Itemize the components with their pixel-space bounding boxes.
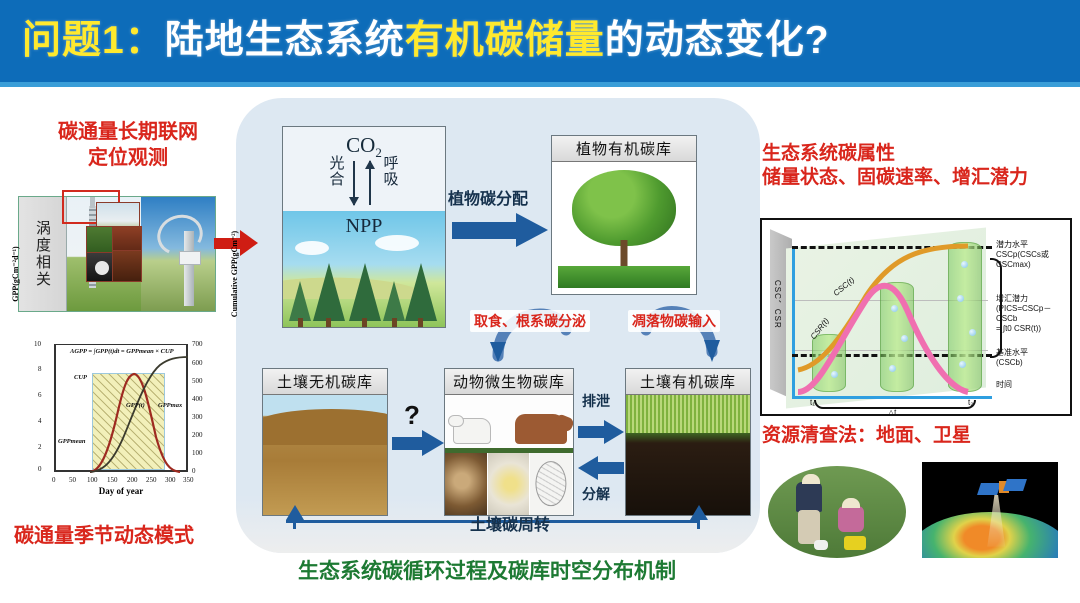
t-start-label: t₁ [810, 398, 815, 408]
tree-trunk-icon [326, 318, 331, 327]
xtick-150: 150 [107, 476, 118, 484]
ytick-2: 2 [38, 443, 42, 451]
chart-curves [56, 345, 190, 473]
bare-soil-photo [263, 395, 387, 515]
cloud-icon [295, 241, 329, 255]
litter-input-label: 凋落物碳输入 [628, 310, 720, 332]
horse-icon [515, 414, 567, 444]
decomposition-label: 分解 [582, 484, 610, 504]
unknown-process-question-mark: ? [404, 400, 420, 431]
carbon-stock-cylinder-3 [948, 242, 982, 392]
litter-photo [445, 453, 488, 515]
tree-trunk-icon [362, 318, 367, 327]
tree-trunk-icon [418, 318, 423, 327]
decomposition-arrow-icon [578, 456, 624, 480]
instrument-field-photo [141, 197, 215, 311]
plant-carbon-distribution-label: 植物碳分配 [448, 185, 528, 209]
plant-organic-carbon-pool: 植物有机碳库 [551, 135, 697, 295]
forest-photo: NPP [283, 211, 445, 327]
potential-level-text: 潜力水平 CSCp(CSCs或CSCmax) [996, 240, 1070, 270]
ytick-10: 10 [34, 340, 41, 348]
npp-diagram-box: CO2 光合 呼吸 NPP [282, 126, 446, 328]
eddy-covariance-label: 涡度相关 [19, 197, 67, 311]
delta-t-label: △t [888, 408, 896, 416]
soil-inorganic-pool-title: 土壤无机碳库 [263, 369, 387, 395]
page-title: 问题1：陆地生态系统有机碳储量的动态变化? [22, 14, 830, 68]
bio-pool-title: 动物微生物碳库 [445, 369, 573, 395]
sensor-mast-icon [184, 231, 194, 306]
xtick-200: 200 [127, 476, 138, 484]
gpp-seasonal-chart: GPP(gCm⁻²d⁻¹) Cumulative GPP(gCm⁻²) 10 8… [14, 332, 230, 512]
satellite-icon [979, 479, 1025, 501]
respiration-arrow-icon [369, 161, 371, 205]
title-part-1: 问题1： [22, 19, 165, 62]
soil-to-biota-arrow-icon [392, 430, 444, 456]
title-part-3: 有机碳储量 [405, 19, 605, 62]
y2tick-500: 500 [192, 377, 203, 385]
y2tick-700: 700 [192, 340, 203, 348]
chart-annotation-cup: CUP [74, 374, 87, 381]
excretion-label: 排泄 [582, 391, 610, 411]
photosynthesis-arrow-icon [353, 161, 355, 205]
hat-icon [842, 498, 860, 508]
grazing-animals-photo [445, 395, 573, 453]
diagram-x-axis [792, 396, 992, 399]
sample-icon [814, 540, 828, 550]
soil-inorganic-carbon-pool: 土壤无机碳库 [262, 368, 388, 516]
xtick-100: 100 [87, 476, 98, 484]
chart-annotation-gppmax: GPPmax [158, 402, 182, 409]
flux-seasonal-caption: 碳通量季节动态模式 [14, 524, 194, 550]
atmosphere-section: CO2 光合 呼吸 [283, 127, 445, 211]
animal-microbe-carbon-pool: 动物微生物碳库 [444, 368, 574, 516]
carbon-stock-cylinder-2 [880, 282, 914, 392]
goat-icon [453, 418, 491, 444]
chart-y-axis-label: GPP(gCm⁻²d⁻¹) [11, 210, 20, 338]
chart-x-axis-label: Day of year [54, 486, 188, 496]
chart-y2-axis-label: Cumulative GPP(gCm⁻²) [230, 210, 239, 338]
biota-photo-grid [445, 395, 573, 515]
title-bar-accent-strip [0, 82, 1080, 87]
carbon-sink-potential-diagram: CSC、CSR 潜力水平 CSCp(CSCs或CSCmax) 增汇潜力 (PIC… [760, 218, 1072, 416]
tree-icon [349, 263, 381, 321]
ytick-8: 8 [38, 365, 42, 373]
inset-photo-5 [112, 250, 142, 282]
turnover-stem-left [293, 512, 296, 529]
t-end-label: t₂ [968, 398, 973, 408]
field-survey-photo [768, 466, 906, 558]
turnover-stem-right [697, 512, 700, 529]
chart-annotation-agpp: AGPP = ∫GPP(t)dt = GPPmean × CUP [70, 348, 174, 355]
xtick-350: 350 [183, 476, 194, 484]
title-part-4: 的动态变化? [605, 19, 830, 62]
tree-icon [405, 263, 437, 321]
y2tick-300: 300 [192, 413, 203, 421]
title-part-2: 陆地生态系统 [165, 19, 405, 62]
xtick-0: 0 [52, 476, 56, 484]
soil-organic-pool-title: 土壤有机碳库 [626, 369, 750, 395]
tree-canopy-icon [572, 170, 676, 246]
hat-icon [802, 474, 820, 484]
satellite-remote-sensing-photo [922, 462, 1058, 558]
fungi-photo [488, 453, 531, 515]
xtick-50: 50 [69, 476, 76, 484]
ytick-0: 0 [38, 465, 42, 473]
chart-annotation-gppmean: GPPmean [58, 438, 85, 445]
grass-soil-profile-photo [626, 395, 750, 515]
surveyor-legs [798, 510, 820, 544]
diagram-y-axis [792, 246, 795, 398]
sink-potential-brace [990, 258, 1002, 358]
sample-bag-icon [844, 536, 866, 550]
ecosystem-carbon-attributes-title: 生态系统碳属性 储量状态、固碳速率、增汇潜力 [762, 142, 1028, 191]
second-surveyor-icon [838, 506, 864, 532]
diagram-x-axis-label: 时间 [996, 380, 1012, 390]
y2tick-400: 400 [192, 395, 203, 403]
respiration-label: 呼吸 [381, 157, 401, 189]
co2-label: CO2 [283, 133, 445, 161]
tree-trunk-icon [392, 318, 397, 327]
ytick-6: 6 [38, 391, 42, 399]
resource-inventory-title: 资源清查法：地面、卫星 [762, 424, 971, 448]
soil-organic-carbon-pool: 土壤有机碳库 [625, 368, 751, 516]
tree-photo [552, 162, 696, 294]
slide-root: 问题1：陆地生态系统有机碳储量的动态变化? 碳通量长期联网 定位观测 涡度相关 … [0, 0, 1080, 603]
tree-icon [289, 281, 311, 321]
y2tick-200: 200 [192, 431, 203, 439]
surveyor-icon [796, 482, 822, 512]
soil-carbon-turnover-label: 土壤碳周转 [470, 511, 550, 535]
carbon-cycle-caption: 生态系统碳循环过程及碳库时空分布机制 [298, 555, 676, 585]
eat-root-exudate-label: 取食、根系碳分泌 [470, 310, 590, 332]
photosynthesis-label: 光合 [327, 157, 347, 189]
diagram-y-axis-label: CSC、CSR [772, 280, 783, 329]
carbon-stock-cylinder-1 [812, 334, 846, 392]
y2tick-100: 100 [192, 449, 203, 457]
tree-trunk-icon [298, 318, 303, 327]
tree-icon [383, 281, 405, 321]
chart-annotation-gppt: GPP(t) [126, 402, 145, 409]
flux-observation-title: 碳通量长期联网 定位观测 [34, 120, 222, 171]
plant-distribution-arrow-icon [452, 213, 548, 247]
tree-icon [313, 263, 345, 321]
xtick-300: 300 [165, 476, 176, 484]
y2tick-600: 600 [192, 359, 203, 367]
microbe-photo [530, 453, 573, 515]
excretion-arrow-icon [578, 420, 624, 444]
sink-potential-text: 增汇潜力 (PICS=CSCp－CSCb = ∫t0 CSR(t)) [996, 294, 1070, 334]
y2tick-0: 0 [192, 467, 196, 475]
microbe-photo-row [445, 453, 573, 515]
ytick-4: 4 [38, 417, 42, 425]
plant-pool-title: 植物有机碳库 [552, 136, 696, 162]
grass-strip [558, 266, 690, 288]
xtick-250: 250 [146, 476, 157, 484]
npp-label: NPP [283, 215, 445, 238]
